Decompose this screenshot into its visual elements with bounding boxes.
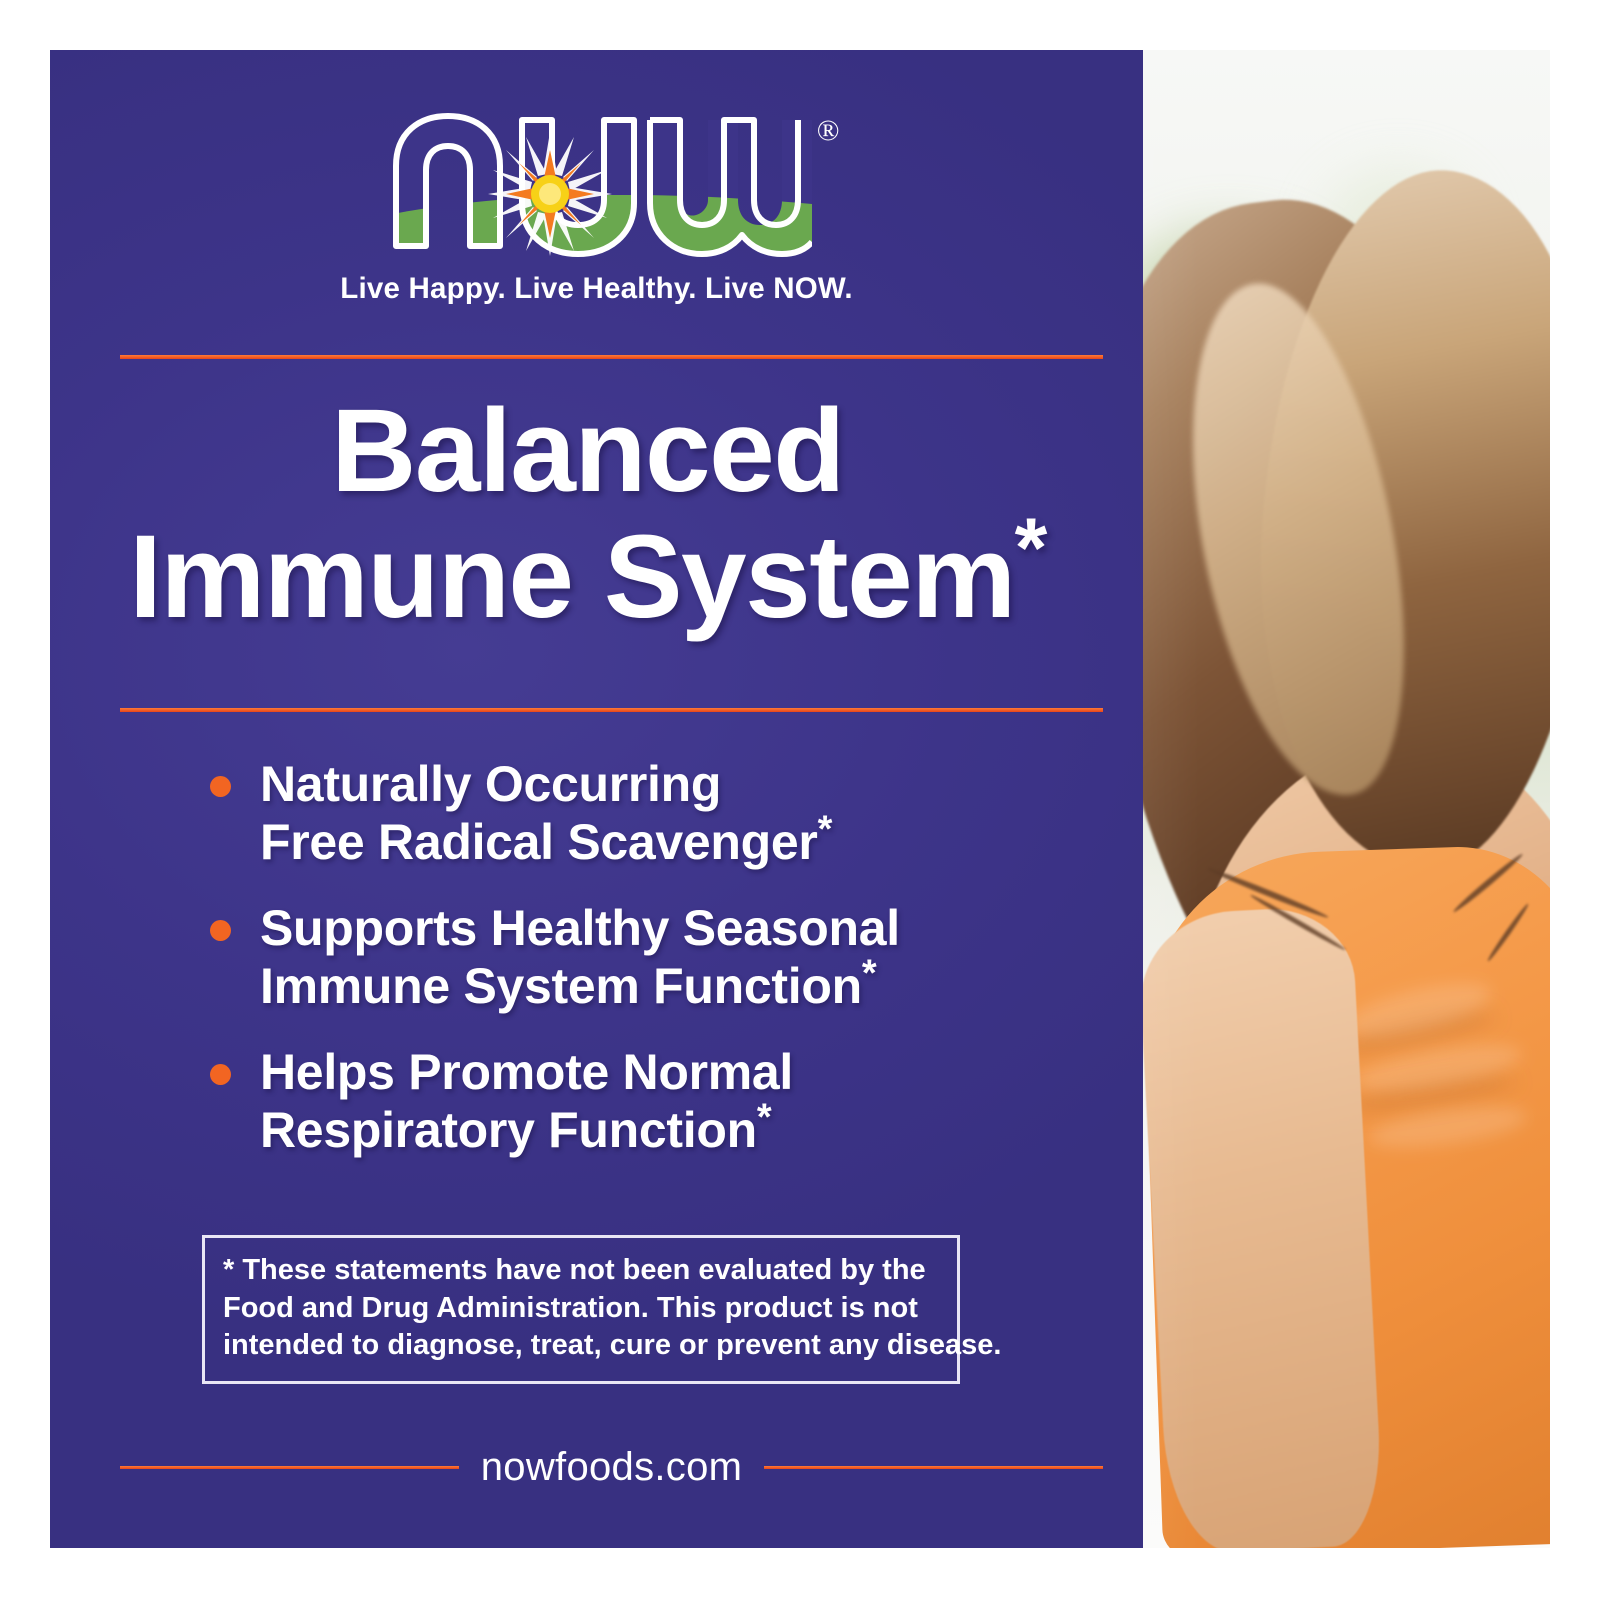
page-title: Balanced Immune System* (50, 388, 1125, 641)
list-item: Helps Promote Normal Respiratory Functio… (202, 1043, 1082, 1159)
brand-logo: ® Live Happy. Live Healthy. Live NOW. (50, 108, 1143, 306)
bullet-1-asterisk: * (818, 808, 833, 850)
bullet-3-line-2-wrap: Respiratory Function* (260, 1101, 1082, 1159)
list-item: Naturally Occurring Free Radical Scaveng… (202, 755, 1082, 871)
benefits-list: Naturally Occurring Free Radical Scaveng… (202, 755, 1082, 1187)
bullet-dot-icon (210, 776, 231, 797)
footer-rule-left (120, 1466, 459, 1469)
lifestyle-photo (1143, 50, 1550, 1548)
promo-card: ® Live Happy. Live Healthy. Live NOW. Ba… (50, 50, 1550, 1548)
divider-rule-bottom (120, 708, 1103, 712)
sunburst-icon (488, 132, 612, 256)
headline-asterisk: * (1015, 501, 1046, 595)
headline-line-2: Immune System (129, 511, 1015, 643)
bullet-3-line-2: Respiratory Function (260, 1102, 757, 1158)
footer-rule-right (764, 1466, 1103, 1469)
disclaimer-line-2: Food and Drug Administration. This produ… (223, 1290, 939, 1328)
bullet-2-line-2-wrap: Immune System Function* (260, 957, 1082, 1015)
bullet-2-asterisk: * (862, 952, 877, 994)
disclaimer-line-3: intended to diagnose, treat, cure or pre… (223, 1327, 939, 1365)
bullet-2-line-2: Immune System Function (260, 958, 862, 1014)
brand-tagline: Live Happy. Live Healthy. Live NOW. (50, 272, 1143, 306)
bullet-3-line-1: Helps Promote Normal (260, 1043, 1082, 1101)
divider-rule-top (120, 355, 1103, 359)
website-url[interactable]: nowfoods.com (481, 1445, 743, 1490)
bullet-2-line-1: Supports Healthy Seasonal (260, 899, 1082, 957)
bullet-1-line-2-wrap: Free Radical Scavenger* (260, 813, 1082, 871)
footer: nowfoods.com (120, 1445, 1103, 1490)
poster-canvas: ® Live Happy. Live Healthy. Live NOW. Ba… (0, 0, 1600, 1600)
bullet-dot-icon (210, 1064, 231, 1085)
fda-disclaimer: * These statements have not been evaluat… (202, 1235, 960, 1384)
bullet-dot-icon (210, 920, 231, 941)
now-wordmark-logo: ® (382, 108, 812, 263)
bullet-1-line-2: Free Radical Scavenger (260, 814, 818, 870)
bullet-1-line-1: Naturally Occurring (260, 755, 1082, 813)
headline-line-1: Balanced (50, 388, 1125, 514)
photo-arm (1143, 905, 1385, 1548)
now-logo-svg (382, 108, 812, 263)
bullet-3-asterisk: * (757, 1096, 772, 1138)
content-panel: ® Live Happy. Live Healthy. Live NOW. Ba… (50, 50, 1143, 1548)
list-item: Supports Healthy Seasonal Immune System … (202, 899, 1082, 1015)
registered-trademark-icon: ® (817, 116, 840, 146)
headline-line-2-wrap: Immune System* (50, 514, 1125, 640)
disclaimer-line-1: * These statements have not been evaluat… (223, 1252, 939, 1290)
